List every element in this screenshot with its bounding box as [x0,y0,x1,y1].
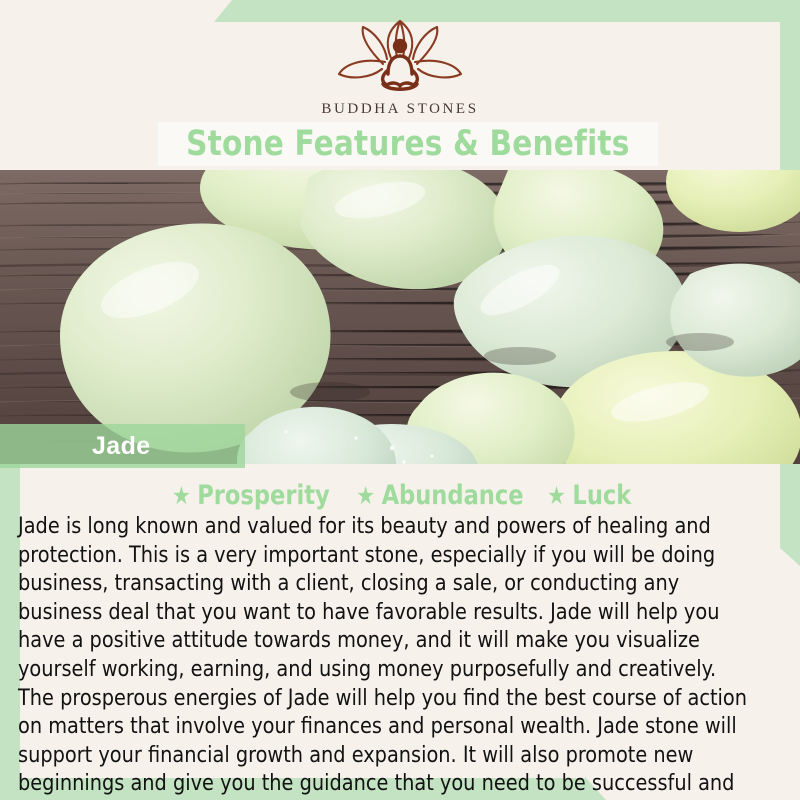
page-title: Stone Features & Benefits [186,124,629,164]
stone-name-banner: Jade [0,424,245,468]
lotus-meditation-icon [325,18,475,96]
stone-name-label: Jade [92,432,151,461]
brand-logo: BUDDHA STONES [0,18,800,118]
poster-canvas: BUDDHA STONES Stone Features & Benefits [0,0,800,800]
hero-photo [0,170,800,464]
benefits-row: ★ Prosperity ★ Abundance ★ Luck [0,480,800,511]
star-icon: ★ [547,483,566,508]
benefit-label: Prosperity [197,480,330,511]
jade-stones-photo [0,170,800,464]
benefit-label: Abundance [381,480,523,511]
benefit-item-luck: ★ Luck [547,480,631,511]
benefit-item-abundance: ★ Abundance [356,480,523,511]
stone-description: Jade is long known and valued for its be… [18,512,753,800]
star-icon: ★ [356,483,375,508]
brand-wordmark: BUDDHA STONES [321,101,478,118]
benefit-item-prosperity: ★ Prosperity [172,480,330,511]
star-icon: ★ [172,483,191,508]
title-banner: Stone Features & Benefits [158,122,658,166]
benefit-label: Luck [572,480,631,511]
